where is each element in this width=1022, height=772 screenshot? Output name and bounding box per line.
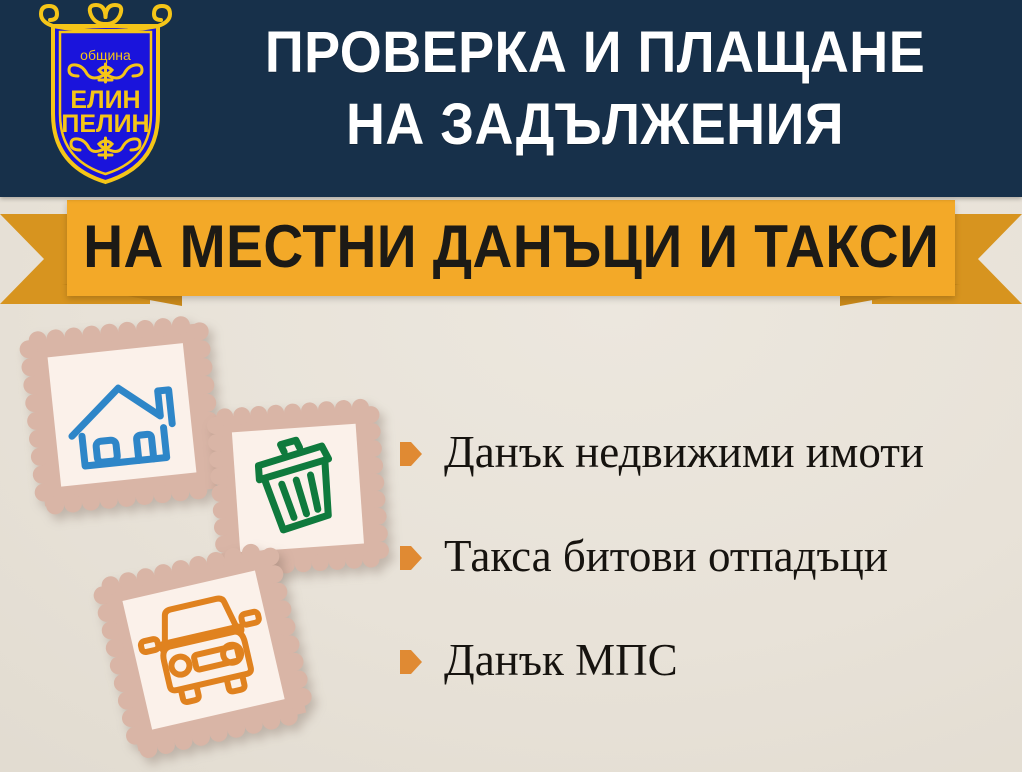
- tax-types-list: Данък недвижими имоти Такса битови отпад…: [400, 425, 1015, 687]
- list-item-label: Данък МПС: [444, 634, 678, 686]
- ribbon-band: НА МЕСТНИ ДАНЪЦИ И ТАКСИ: [67, 200, 955, 296]
- municipality-emblem: община ЕЛИН ПЕЛИН: [33, 2, 178, 188]
- list-item-label: Данък недвижими имоти: [444, 426, 924, 478]
- page-title: ПРОВЕРКА И ПЛАЩАНЕ НА ЗАДЪЛЖЕНИЯ: [214, 17, 977, 161]
- arrow-bullet-icon: [400, 546, 422, 570]
- ribbon-label: НА МЕСТНИ ДАНЪЦИ И ТАКСИ: [83, 217, 939, 277]
- subtitle-ribbon: НА МЕСТНИ ДАНЪЦИ И ТАКСИ: [0, 196, 1022, 308]
- header-banner: община ЕЛИН ПЕЛИН: [0, 0, 1022, 197]
- svg-text:община: община: [80, 47, 131, 63]
- list-item-label: Такса битови отпадъци: [444, 530, 888, 582]
- list-item[interactable]: Данък недвижими имоти: [400, 425, 1015, 479]
- arrow-bullet-icon: [400, 650, 422, 674]
- poster-canvas: община ЕЛИН ПЕЛИН: [0, 0, 1022, 772]
- arrow-bullet-icon: [400, 442, 422, 466]
- list-item[interactable]: Данък МПС: [400, 633, 1015, 687]
- list-item[interactable]: Такса битови отпадъци: [400, 529, 1015, 583]
- stamp-card-house: [14, 310, 229, 520]
- svg-text:ПЕЛИН: ПЕЛИН: [61, 110, 149, 138]
- stamp-card-car: [92, 540, 317, 765]
